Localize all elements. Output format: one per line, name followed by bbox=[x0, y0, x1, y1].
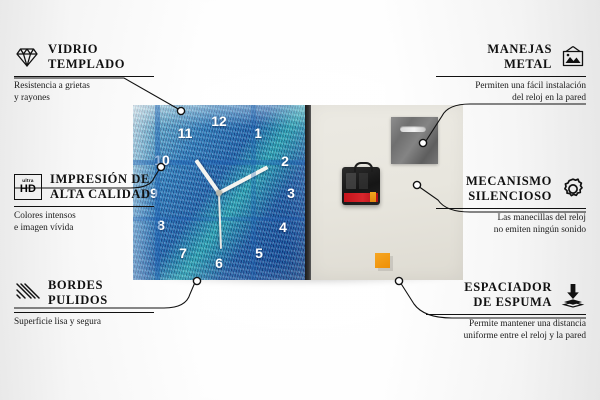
clock-numeral-6: 6 bbox=[215, 256, 223, 270]
divider bbox=[14, 206, 154, 207]
feature-title: IMPRESIÓN DEALTA CALIDAD bbox=[50, 172, 151, 202]
infographic-canvas: 12 1 2 3 4 5 6 7 8 9 10 11 bbox=[0, 0, 600, 400]
feature-impresion-alta-calidad[interactable]: ultra HD IMPRESIÓN DEALTA CALIDAD Colore… bbox=[14, 172, 154, 234]
clock-numeral-8: 8 bbox=[157, 218, 165, 232]
feature-mecanismo-silencioso[interactable]: MECANISMOSILENCIOSO Las manecillas del r… bbox=[436, 174, 586, 236]
divider bbox=[14, 76, 154, 77]
diamond-icon bbox=[14, 44, 40, 70]
feature-description: Permite mantener una distanciauniforme e… bbox=[426, 318, 586, 343]
mechanism-hanger-loop bbox=[354, 162, 373, 172]
clock-numeral-11: 11 bbox=[178, 126, 193, 140]
feature-title: BORDESPULIDOS bbox=[48, 278, 108, 308]
divider bbox=[436, 76, 586, 77]
polished-edges-icon bbox=[14, 280, 40, 306]
feature-manejas-metal[interactable]: MANEJASMETAL Permiten una fácil instalac… bbox=[436, 42, 586, 104]
feature-vidrio-templado[interactable]: VIDRIOTEMPLADO Resistencia a grietasy ra… bbox=[14, 42, 154, 104]
feature-title: ESPACIADORDE ESPUMA bbox=[464, 280, 552, 310]
feature-description: Permiten una fácil instalacióndel reloj … bbox=[436, 80, 586, 105]
clock-numeral-1: 1 bbox=[254, 126, 262, 140]
feature-bordes-pulidos[interactable]: BORDESPULIDOS Superficie lisa y segura bbox=[14, 278, 154, 328]
gear-icon bbox=[560, 176, 586, 202]
feature-description: Superficie lisa y segura bbox=[14, 316, 154, 328]
feature-title: VIDRIOTEMPLADO bbox=[48, 42, 125, 72]
quartz-mechanism bbox=[342, 167, 380, 205]
mechanism-label bbox=[344, 193, 378, 202]
feature-description: Colores intensose imagen vívida bbox=[14, 210, 154, 235]
clock-numeral-4: 4 bbox=[279, 220, 287, 234]
clock-minute-hand bbox=[218, 165, 268, 194]
feature-description: Resistencia a grietasy rayones bbox=[14, 80, 154, 105]
mechanism-detail bbox=[346, 173, 376, 189]
ultra-hd-icon: ultra HD bbox=[14, 174, 42, 200]
feature-espaciador-espuma[interactable]: ESPACIADORDE ESPUMA Permite mantener una… bbox=[426, 280, 586, 342]
divider bbox=[426, 314, 586, 315]
clock-numeral-2: 2 bbox=[281, 154, 289, 168]
clock-numeral-12: 12 bbox=[211, 114, 227, 128]
clock-front-face: 12 1 2 3 4 5 6 7 8 9 10 11 bbox=[133, 105, 305, 280]
metal-hanger-plate bbox=[391, 117, 438, 164]
clock-numeral-3: 3 bbox=[287, 186, 295, 200]
feature-title: MECANISMOSILENCIOSO bbox=[466, 174, 552, 204]
clock-center-cap bbox=[216, 190, 222, 196]
foam-spacer bbox=[375, 253, 390, 268]
hanger-keyhole-slot bbox=[400, 126, 426, 132]
picture-hanger-icon bbox=[560, 44, 586, 70]
feature-description: Las manecillas del relojno emiten ningún… bbox=[436, 212, 586, 237]
divider bbox=[436, 208, 586, 209]
clock-numeral-10: 10 bbox=[154, 153, 170, 167]
product-image: 12 1 2 3 4 5 6 7 8 9 10 11 bbox=[133, 105, 463, 280]
divider bbox=[14, 312, 154, 313]
clock-numeral-5: 5 bbox=[255, 246, 263, 260]
foam-spacer-icon bbox=[560, 282, 586, 308]
pattern-band-1 bbox=[133, 160, 305, 165]
feature-title: MANEJASMETAL bbox=[487, 42, 552, 72]
clock-numeral-7: 7 bbox=[179, 246, 187, 260]
